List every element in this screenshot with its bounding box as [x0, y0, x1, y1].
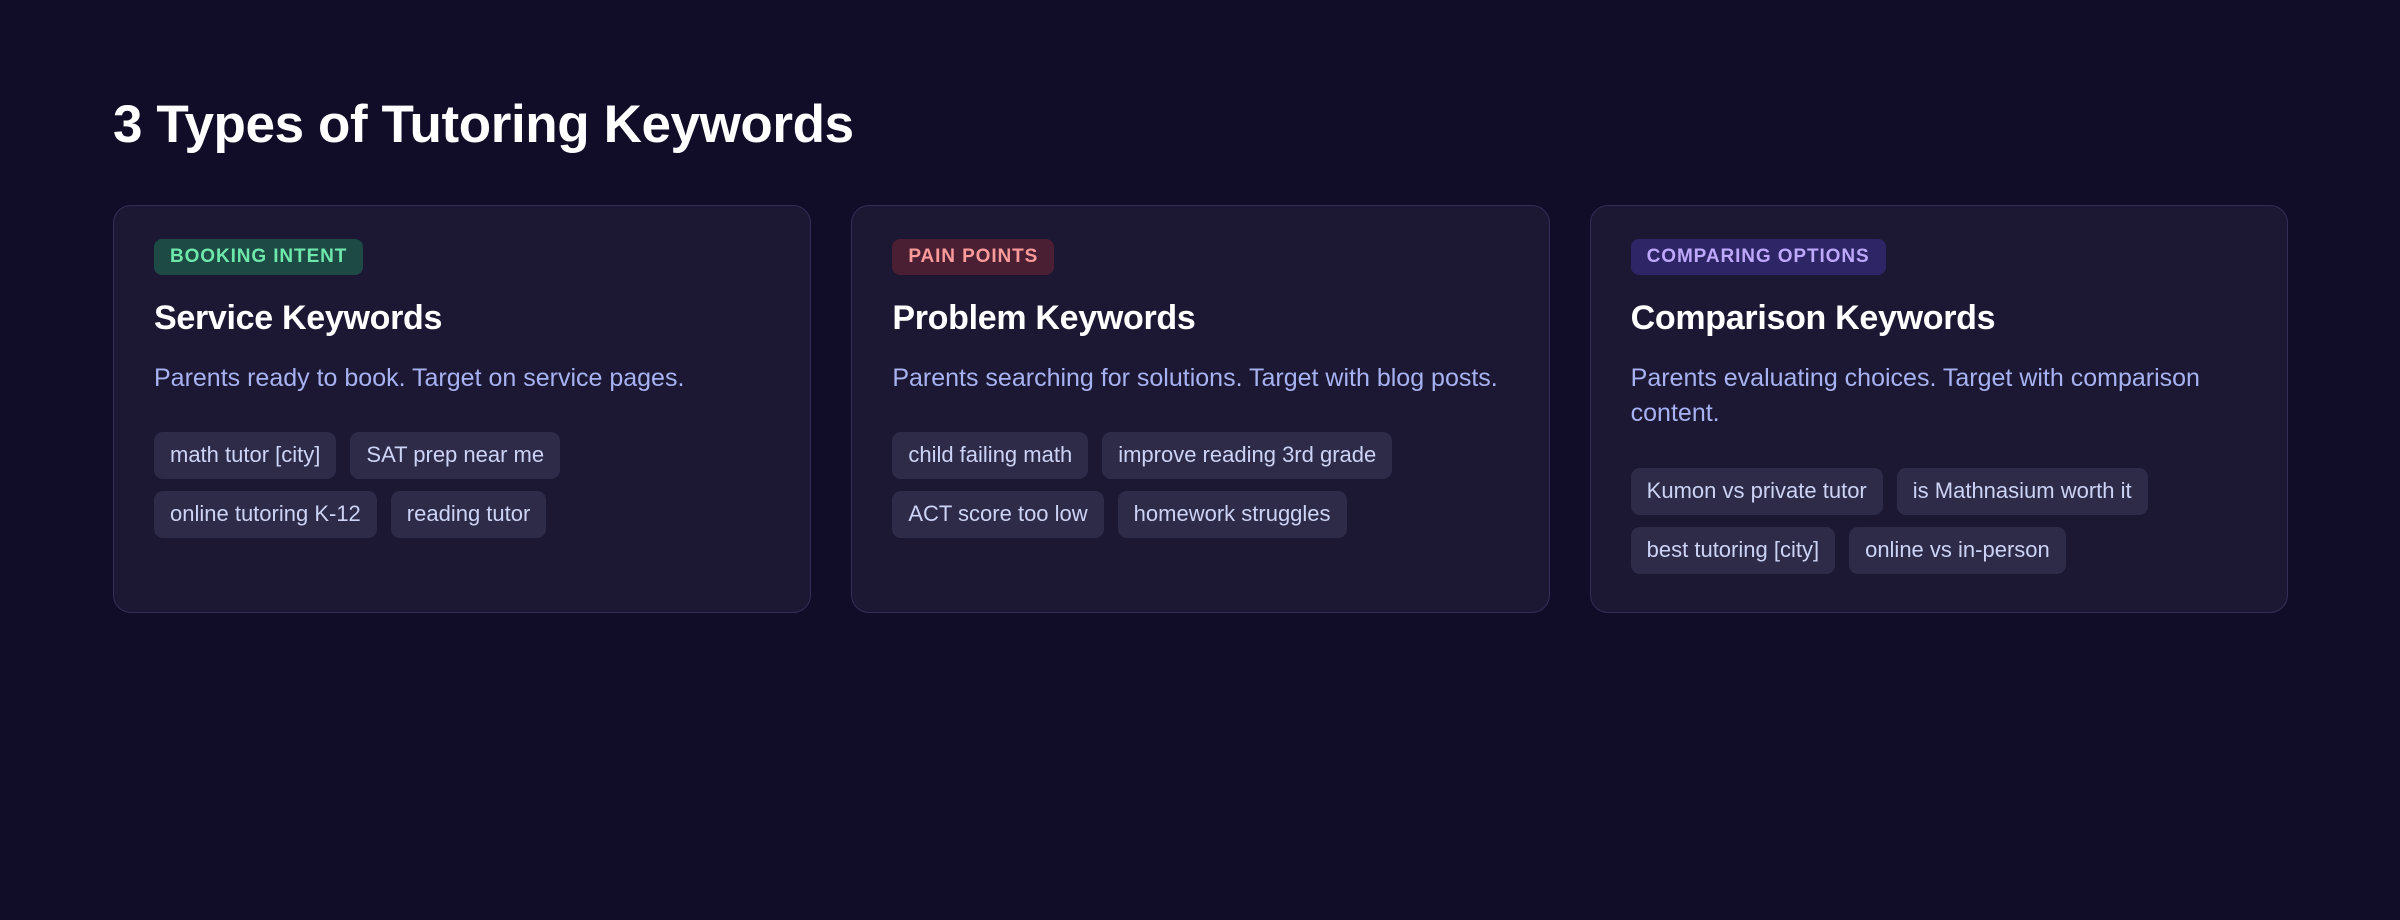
- keyword-tag[interactable]: online vs in-person: [1849, 527, 2066, 574]
- keyword-tag[interactable]: reading tutor: [391, 491, 547, 538]
- card-category-badge: BOOKING INTENT: [154, 239, 363, 275]
- card-title: Comparison Keywords: [1631, 298, 2247, 339]
- keyword-tag[interactable]: online tutoring K-12: [154, 491, 377, 538]
- card-description: Parents ready to book. Target on service…: [154, 361, 770, 397]
- keyword-card-grid: BOOKING INTENT Service Keywords Parents …: [113, 205, 2288, 613]
- card-category-badge: PAIN POINTS: [892, 239, 1054, 275]
- card-category-badge: COMPARING OPTIONS: [1631, 239, 1886, 275]
- keyword-tag-list: child failing math improve reading 3rd g…: [892, 432, 1508, 538]
- keyword-tag[interactable]: improve reading 3rd grade: [1102, 432, 1392, 479]
- keyword-types-page: 3 Types of Tutoring Keywords BOOKING INT…: [0, 0, 2400, 920]
- keyword-card: BOOKING INTENT Service Keywords Parents …: [113, 205, 811, 613]
- keyword-tag-list: math tutor [city] SAT prep near me onlin…: [154, 432, 770, 538]
- card-title: Problem Keywords: [892, 298, 1508, 339]
- card-description: Parents evaluating choices. Target with …: [1631, 361, 2247, 432]
- keyword-tag[interactable]: is Mathnasium worth it: [1897, 468, 2148, 515]
- page-title: 3 Types of Tutoring Keywords: [113, 95, 854, 156]
- keyword-tag[interactable]: homework struggles: [1118, 491, 1347, 538]
- keyword-card: COMPARING OPTIONS Comparison Keywords Pa…: [1590, 205, 2288, 613]
- card-description: Parents searching for solutions. Target …: [892, 361, 1508, 397]
- keyword-tag-list: Kumon vs private tutor is Mathnasium wor…: [1631, 468, 2247, 574]
- card-title: Service Keywords: [154, 298, 770, 339]
- keyword-tag[interactable]: Kumon vs private tutor: [1631, 468, 1883, 515]
- keyword-tag[interactable]: child failing math: [892, 432, 1088, 479]
- keyword-tag[interactable]: math tutor [city]: [154, 432, 336, 479]
- keyword-tag[interactable]: ACT score too low: [892, 491, 1103, 538]
- keyword-card: PAIN POINTS Problem Keywords Parents sea…: [851, 205, 1549, 613]
- keyword-tag[interactable]: SAT prep near me: [350, 432, 560, 479]
- keyword-tag[interactable]: best tutoring [city]: [1631, 527, 1835, 574]
